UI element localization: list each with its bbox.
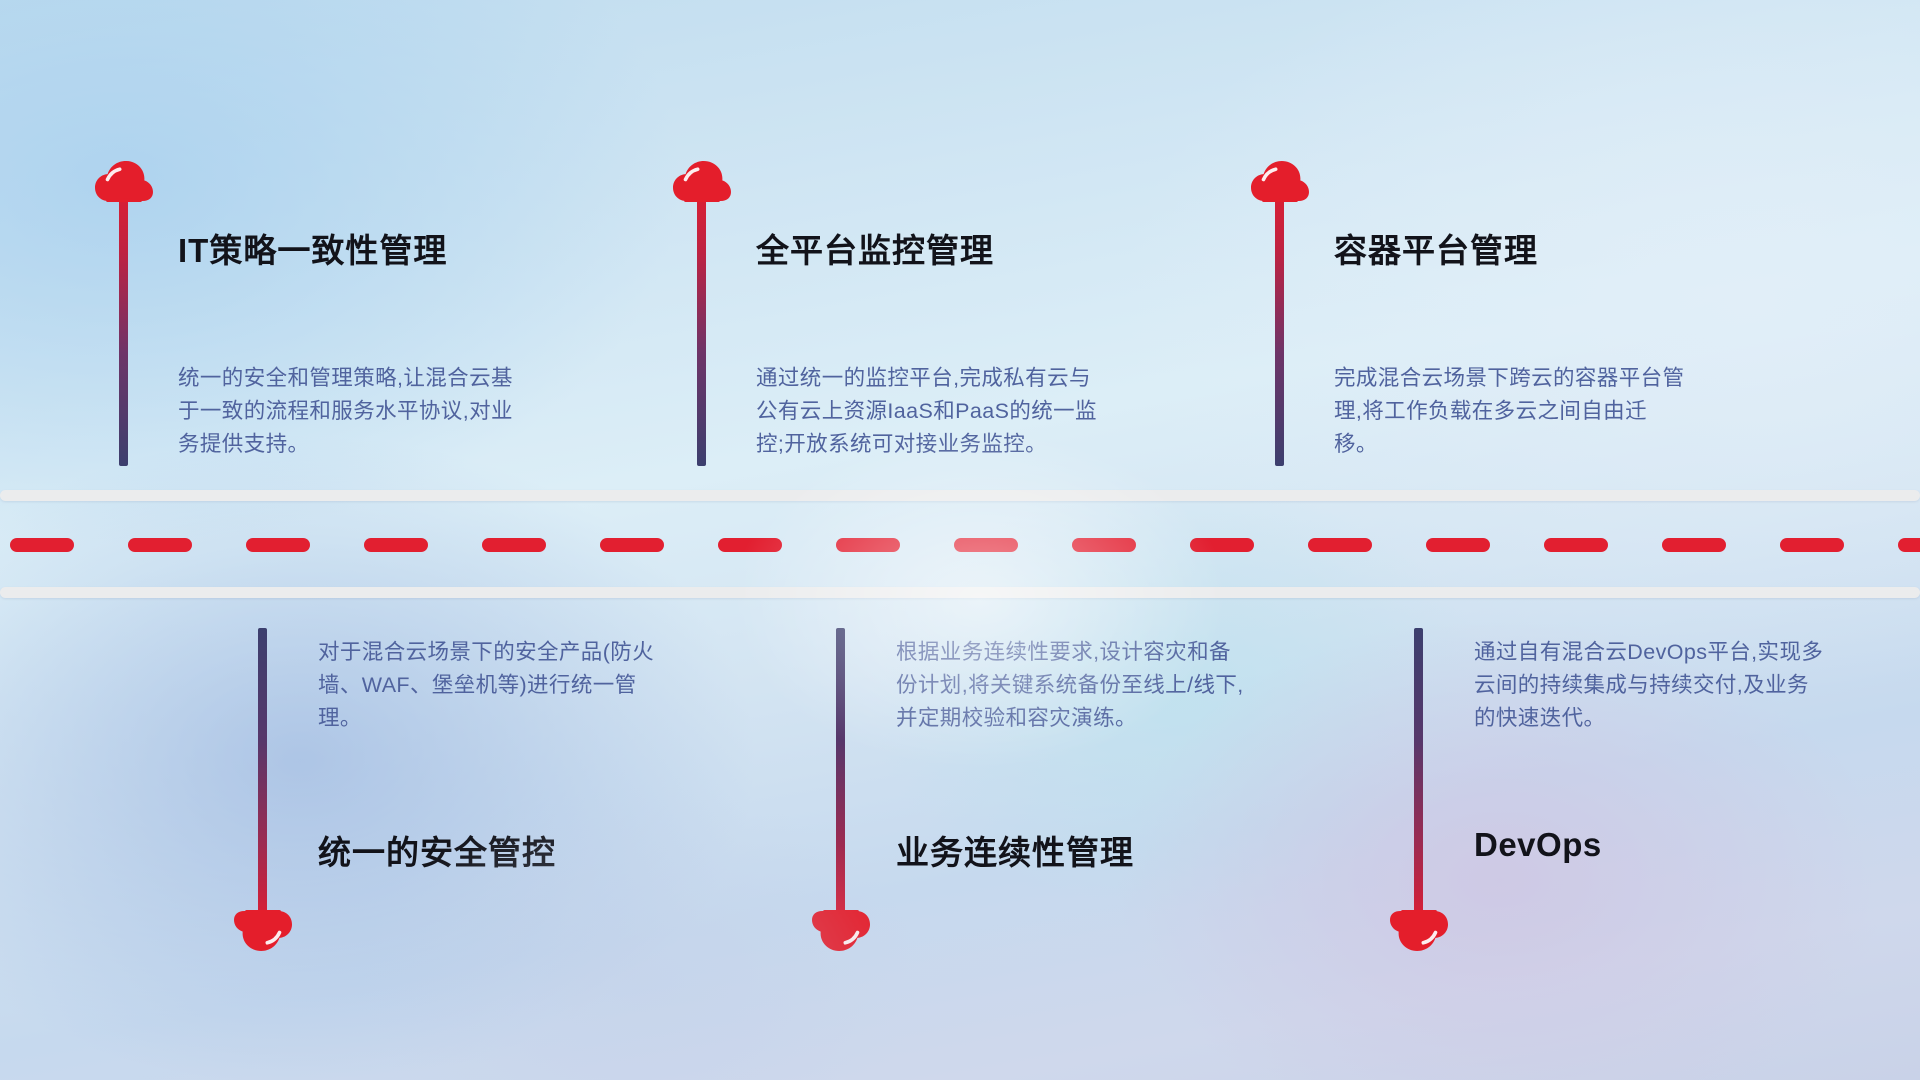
card-title: 统一的安全管控 [318, 826, 556, 874]
road-dash-segment [1072, 538, 1136, 552]
road-dash-segment [1898, 538, 1920, 552]
card-body: 通过自有混合云DevOps平台,实现多云间的持续集成与持续交付,及业务的快速迭代… [1474, 636, 1826, 735]
road-divider [0, 490, 1920, 600]
cloud-icon [672, 158, 732, 202]
card-body: 通过统一的监控平台,完成私有云与公有云上资源IaaS和PaaS的统一监控;开放系… [756, 362, 1108, 461]
road-dash-segment [1308, 538, 1372, 552]
card-body: 统一的安全和管理策略,让混合云基于一致的流程和服务水平协议,对业务提供支持。 [178, 362, 530, 461]
road-dash-segment [364, 538, 428, 552]
pole-top-3 [1275, 168, 1284, 466]
cloud-icon [811, 910, 871, 954]
pole-bottom-1 [258, 628, 267, 926]
card-title: DevOps [1474, 826, 1602, 864]
pole-top-1 [119, 168, 128, 466]
cloud-icon [233, 910, 293, 954]
road-dash-segment [1190, 538, 1254, 552]
road-dash-segment [718, 538, 782, 552]
road-dash-segment [1426, 538, 1490, 552]
card-title: 全平台监控管理 [756, 224, 994, 272]
cloud-icon [1250, 158, 1310, 202]
road-dash-segment [1780, 538, 1844, 552]
card-title: 容器平台管理 [1334, 224, 1538, 272]
cloud-icon [94, 158, 154, 202]
road-dash-segment [482, 538, 546, 552]
road-dash-segment [836, 538, 900, 552]
road-line-lower [0, 587, 1920, 598]
road-dash-segment [128, 538, 192, 552]
road-dash-segment [10, 538, 74, 552]
infographic-canvas: IT策略一致性管理 统一的安全和管理策略,让混合云基于一致的流程和服务水平协议,… [0, 0, 1920, 1080]
card-body: 完成混合云场景下跨云的容器平台管理,将工作负载在多云之间自由迁移。 [1334, 362, 1686, 461]
card-body: 根据业务连续性要求,设计容灾和备份计划,将关键系统备份至线上/线下,并定期校验和… [896, 636, 1248, 735]
road-dashed-line [0, 538, 1920, 552]
pole-bottom-2 [836, 628, 845, 926]
cloud-icon [1389, 910, 1449, 954]
road-dash-segment [600, 538, 664, 552]
road-dash-segment [1544, 538, 1608, 552]
road-dash-segment [954, 538, 1018, 552]
road-dash-segment [246, 538, 310, 552]
pole-bottom-3 [1414, 628, 1423, 926]
road-line-upper [0, 490, 1920, 501]
pole-top-2 [697, 168, 706, 466]
card-title: IT策略一致性管理 [178, 224, 447, 272]
road-dash-segment [1662, 538, 1726, 552]
card-title: 业务连续性管理 [896, 826, 1134, 874]
card-body: 对于混合云场景下的安全产品(防火墙、WAF、堡垒机等)进行统一管理。 [318, 636, 670, 735]
